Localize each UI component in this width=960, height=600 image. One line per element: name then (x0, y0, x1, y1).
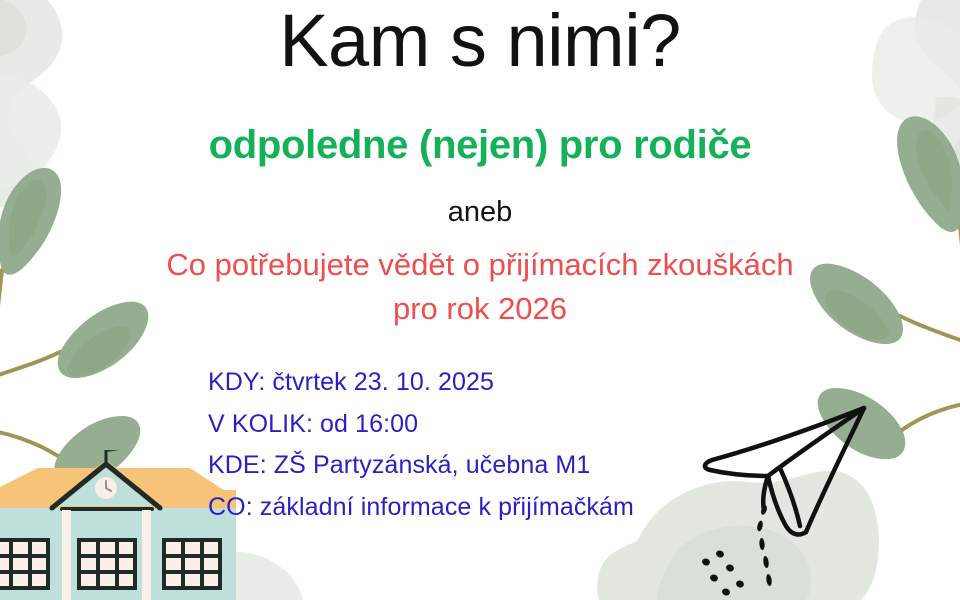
poster-title: Kam s nimi? (0, 4, 960, 78)
poster-connector: aneb (0, 197, 960, 229)
detail-place: KDE: ZŠ Partyzánská, učebna M1 (208, 445, 634, 487)
poster-lead-line-2: pro rok 2026 (100, 287, 860, 331)
detail-when: KDY: čtvrtek 23. 10. 2025 (208, 362, 634, 404)
poster-subtitle: odpoledne (nejen) pro rodiče (0, 124, 960, 166)
poster-text-content: Kam s nimi? odpoledne (nejen) pro rodiče… (0, 0, 960, 600)
detail-time: V KOLIK: od 16:00 (208, 404, 634, 446)
poster-details: KDY: čtvrtek 23. 10. 2025 V KOLIK: od 16… (208, 362, 634, 528)
detail-what: CO: základní informace k přijímačkám (208, 487, 634, 529)
poster-lead-line-1: Co potřebujete vědět o přijímacích zkouš… (100, 243, 860, 287)
poster-lead: Co potřebujete vědět o přijímacích zkouš… (100, 243, 860, 331)
poster-canvas: Kam s nimi? odpoledne (nejen) pro rodiče… (0, 0, 960, 600)
